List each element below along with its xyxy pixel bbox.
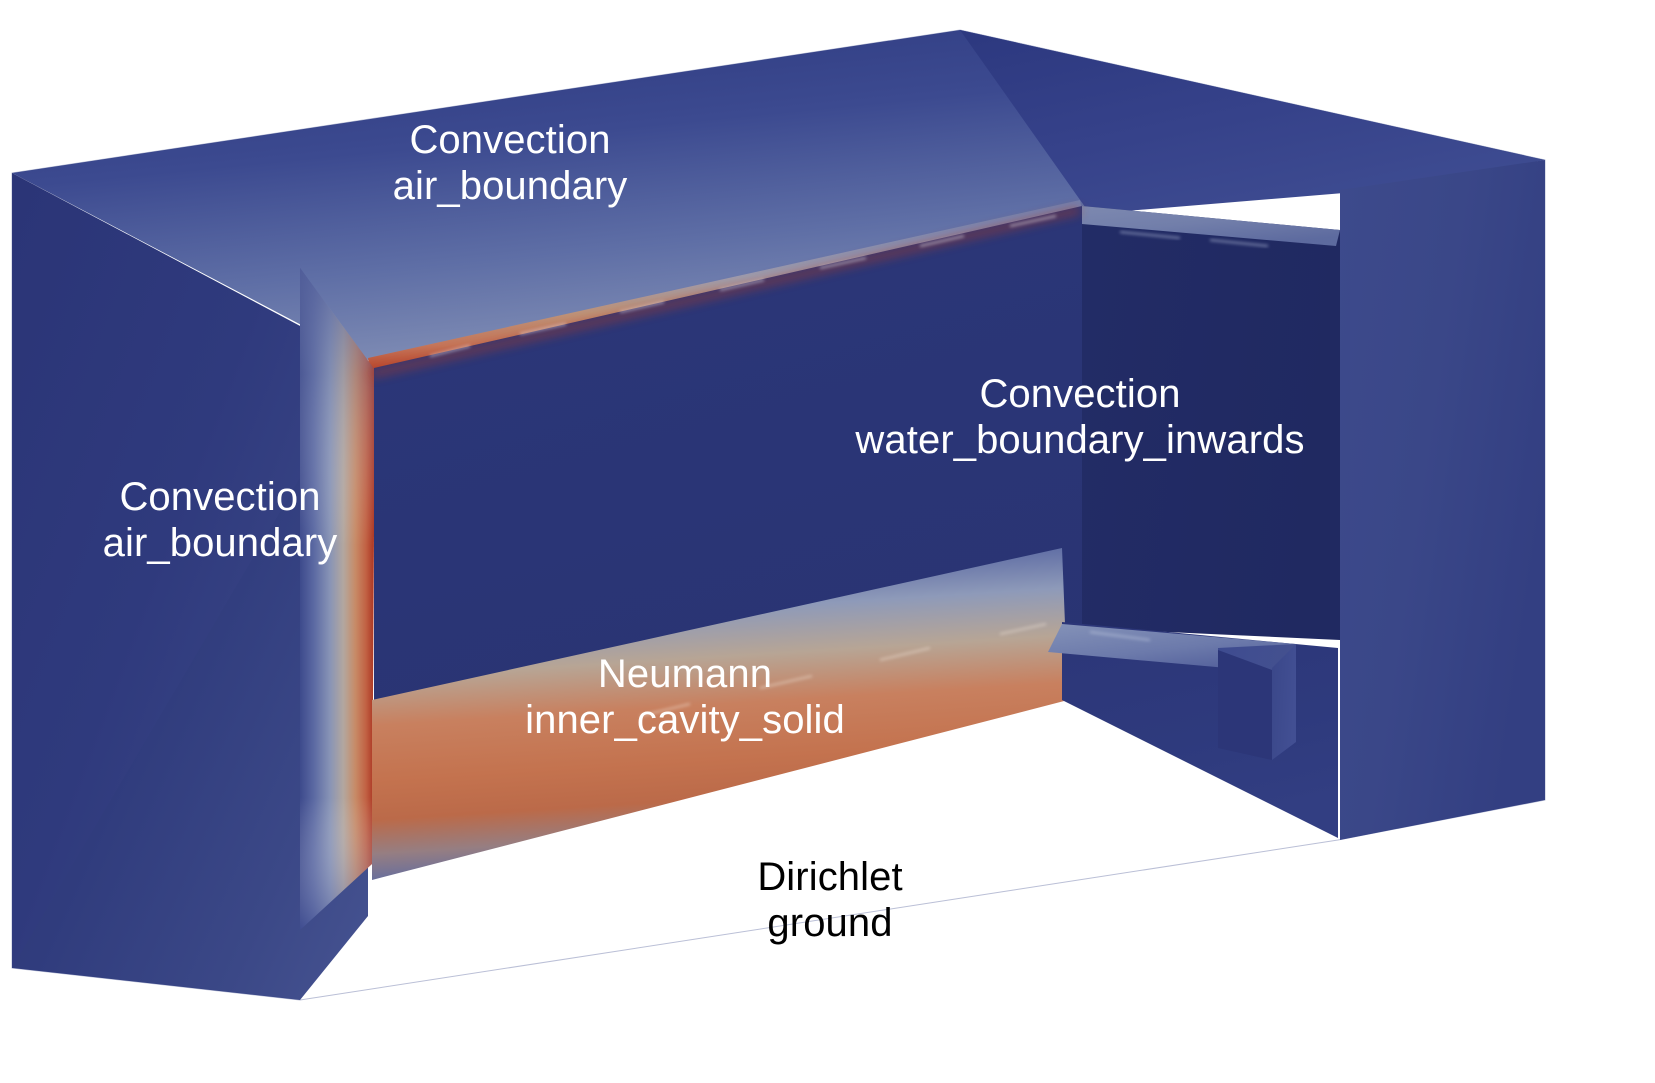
face-cut-vertical-left-shade	[300, 268, 375, 930]
simulation-render-canvas	[0, 0, 1655, 1083]
thermal-simulation-figure: Convection air_boundary Convection air_b…	[0, 0, 1655, 1083]
solid-block-geometry	[12, 30, 1545, 1000]
